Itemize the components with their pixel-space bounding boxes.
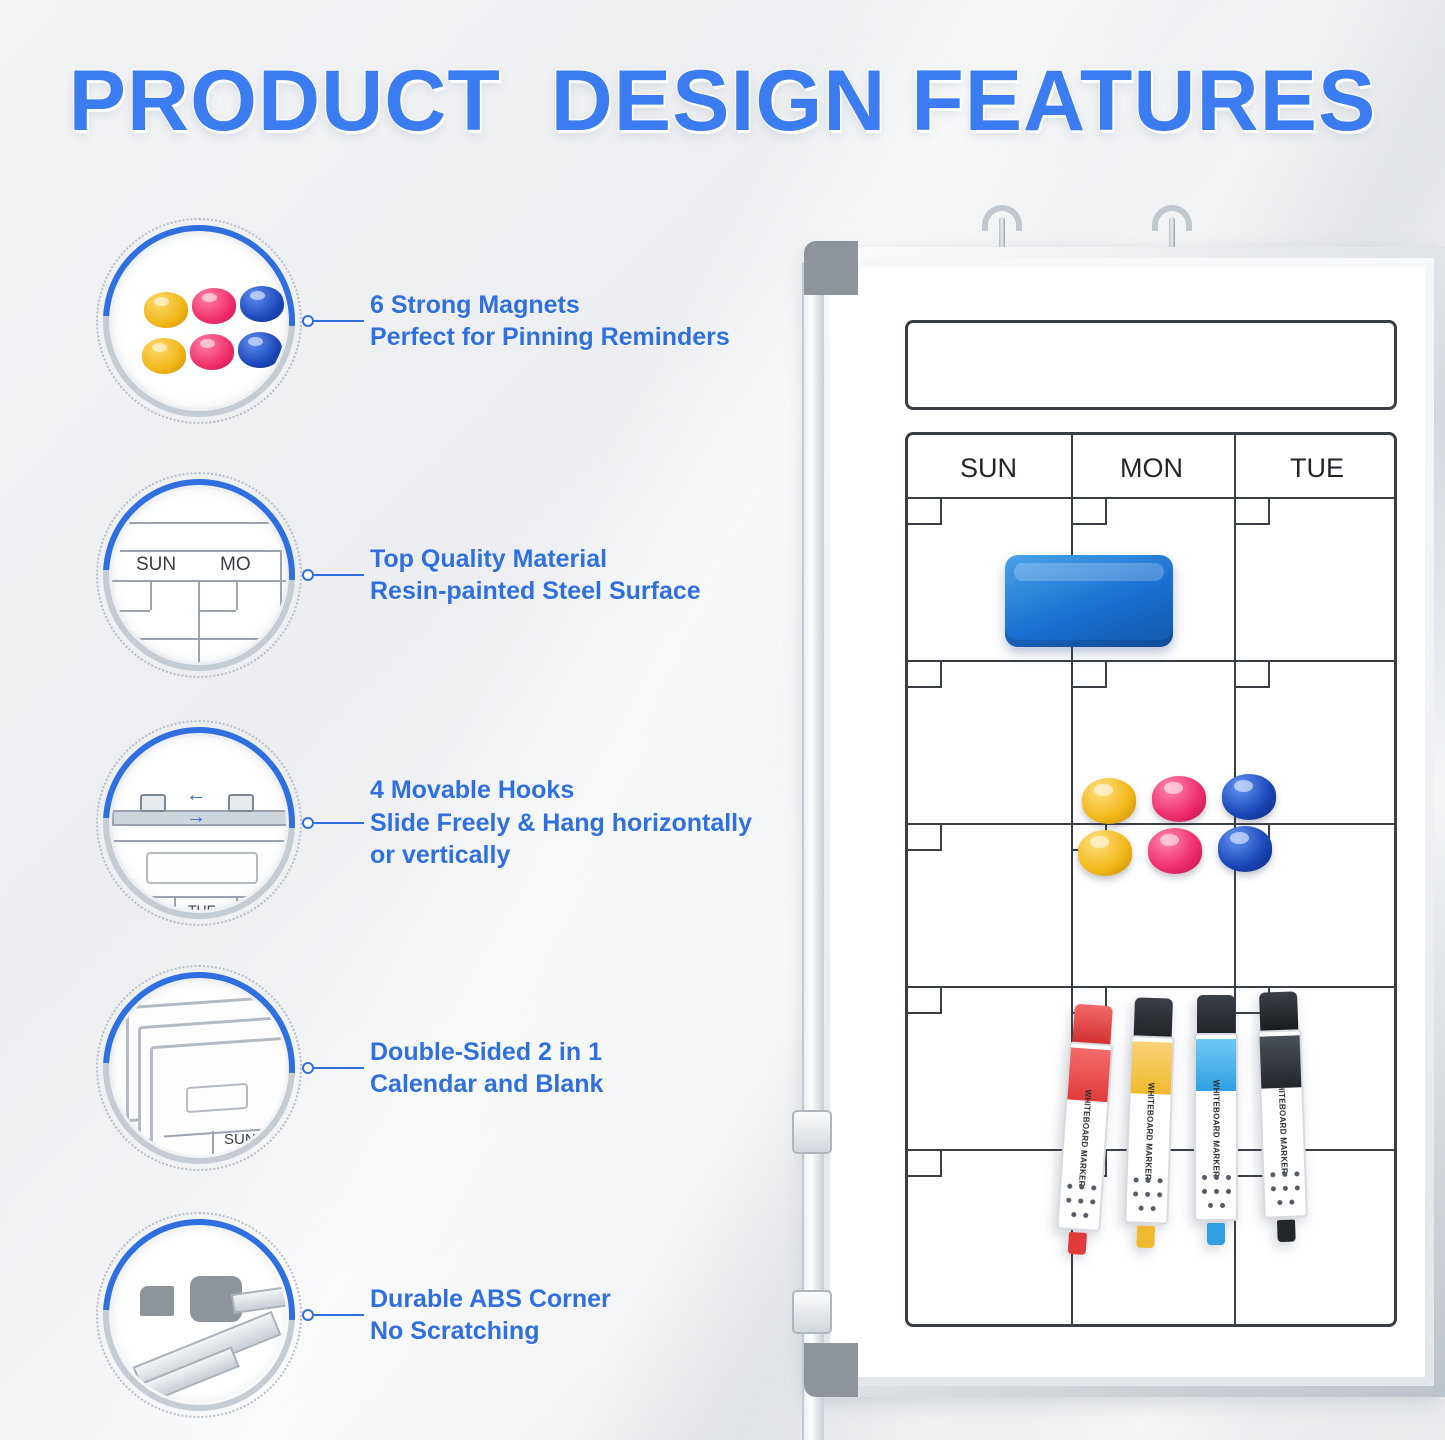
board-magnet-blue[interactable] bbox=[1222, 774, 1276, 820]
callout-connector bbox=[302, 311, 364, 331]
feature-double-sided: SUN Double-Sided 2 in 1 Calendar and Bla… bbox=[96, 965, 603, 1171]
feature-thumbnail-abs-corner bbox=[96, 1212, 302, 1418]
thumb-day-sun: SUN bbox=[224, 1131, 256, 1148]
calendar-day-mon: MON bbox=[1120, 453, 1183, 484]
calendar-title-box bbox=[905, 320, 1397, 410]
marker-blue[interactable]: WHITEBOARD MARKER bbox=[1194, 995, 1238, 1245]
movable-hooks-icon: ← → MON TUE bbox=[112, 736, 286, 910]
callout-connector bbox=[302, 1058, 364, 1078]
thumb-day-mon: MON bbox=[126, 902, 159, 910]
callout-connector bbox=[302, 565, 364, 585]
feature-thumbnail-double-sided: SUN bbox=[96, 965, 302, 1171]
board-magnet-pink[interactable] bbox=[1148, 828, 1202, 874]
feature-thumbnail-material: SUN MO bbox=[96, 472, 302, 678]
feature-material-label: Top Quality Material Resin-painted Steel… bbox=[370, 543, 701, 608]
marker-label: WHITEBOARD MARKER bbox=[1143, 1082, 1155, 1180]
feature-magnets: 6 Strong Magnets Perfect for Pinning Rem… bbox=[96, 218, 730, 424]
double-sided-board-icon: SUN bbox=[112, 981, 286, 1155]
board-side-clip[interactable] bbox=[792, 1110, 832, 1154]
abs-corner-icon bbox=[112, 1228, 286, 1402]
callout-connector bbox=[302, 813, 364, 833]
feature-magnets-label: 6 Strong Magnets Perfect for Pinning Rem… bbox=[370, 289, 730, 354]
board-magnet-yellow[interactable] bbox=[1078, 830, 1132, 876]
marker-label: WHITEBOARD MARKER bbox=[1276, 1076, 1288, 1174]
page-title: PRODUCT DESIGN FEATURES bbox=[0, 52, 1445, 151]
board-side-clip[interactable] bbox=[792, 1290, 832, 1334]
feature-abs-corner: Durable ABS Corner No Scratching bbox=[96, 1212, 611, 1418]
feature-material: SUN MO Top Quality Material Resin-painte… bbox=[96, 472, 701, 678]
feature-thumbnail-magnets bbox=[96, 218, 302, 424]
abs-corner-bottom-left bbox=[804, 1343, 858, 1397]
board-magnet-yellow[interactable] bbox=[1082, 778, 1136, 824]
thumb-day-mon: MO bbox=[220, 554, 251, 576]
feature-abs-corner-label: Durable ABS Corner No Scratching bbox=[370, 1283, 611, 1348]
whiteboard-product-photo: SUN MON TUE WHITEBOARD MARKE bbox=[782, 205, 1445, 1440]
thumb-day-sun: SUN bbox=[136, 554, 176, 576]
board-side-rail bbox=[802, 263, 824, 1440]
feature-hooks-label: 4 Movable Hooks Slide Freely & Hang hori… bbox=[370, 774, 752, 872]
thumb-day-tue: TUE bbox=[188, 902, 216, 910]
board-magnet-blue[interactable] bbox=[1218, 826, 1272, 872]
feature-hooks: ← → MON TUE 4 Movable Hooks Slide Freely… bbox=[96, 720, 752, 926]
calendar-day-sun: SUN bbox=[960, 453, 1017, 484]
marker-yellow[interactable]: WHITEBOARD MARKER bbox=[1123, 997, 1176, 1248]
feature-thumbnail-hooks: ← → MON TUE bbox=[96, 720, 302, 926]
calendar-surface-icon: SUN MO bbox=[112, 488, 286, 662]
board-magnet-pink[interactable] bbox=[1152, 776, 1206, 822]
feature-double-sided-label: Double-Sided 2 in 1 Calendar and Blank bbox=[370, 1036, 603, 1101]
marker-label: WHITEBOARD MARKER bbox=[1077, 1089, 1093, 1187]
callout-connector bbox=[302, 1305, 364, 1325]
calendar-day-tue: TUE bbox=[1290, 453, 1344, 484]
magnetic-eraser[interactable] bbox=[1005, 555, 1173, 647]
magnets-icon bbox=[112, 234, 286, 408]
marker-black[interactable]: WHITEBOARD MARKER bbox=[1256, 991, 1309, 1242]
marker-label: WHITEBOARD MARKER bbox=[1212, 1079, 1221, 1177]
abs-corner-top-left bbox=[804, 241, 858, 295]
